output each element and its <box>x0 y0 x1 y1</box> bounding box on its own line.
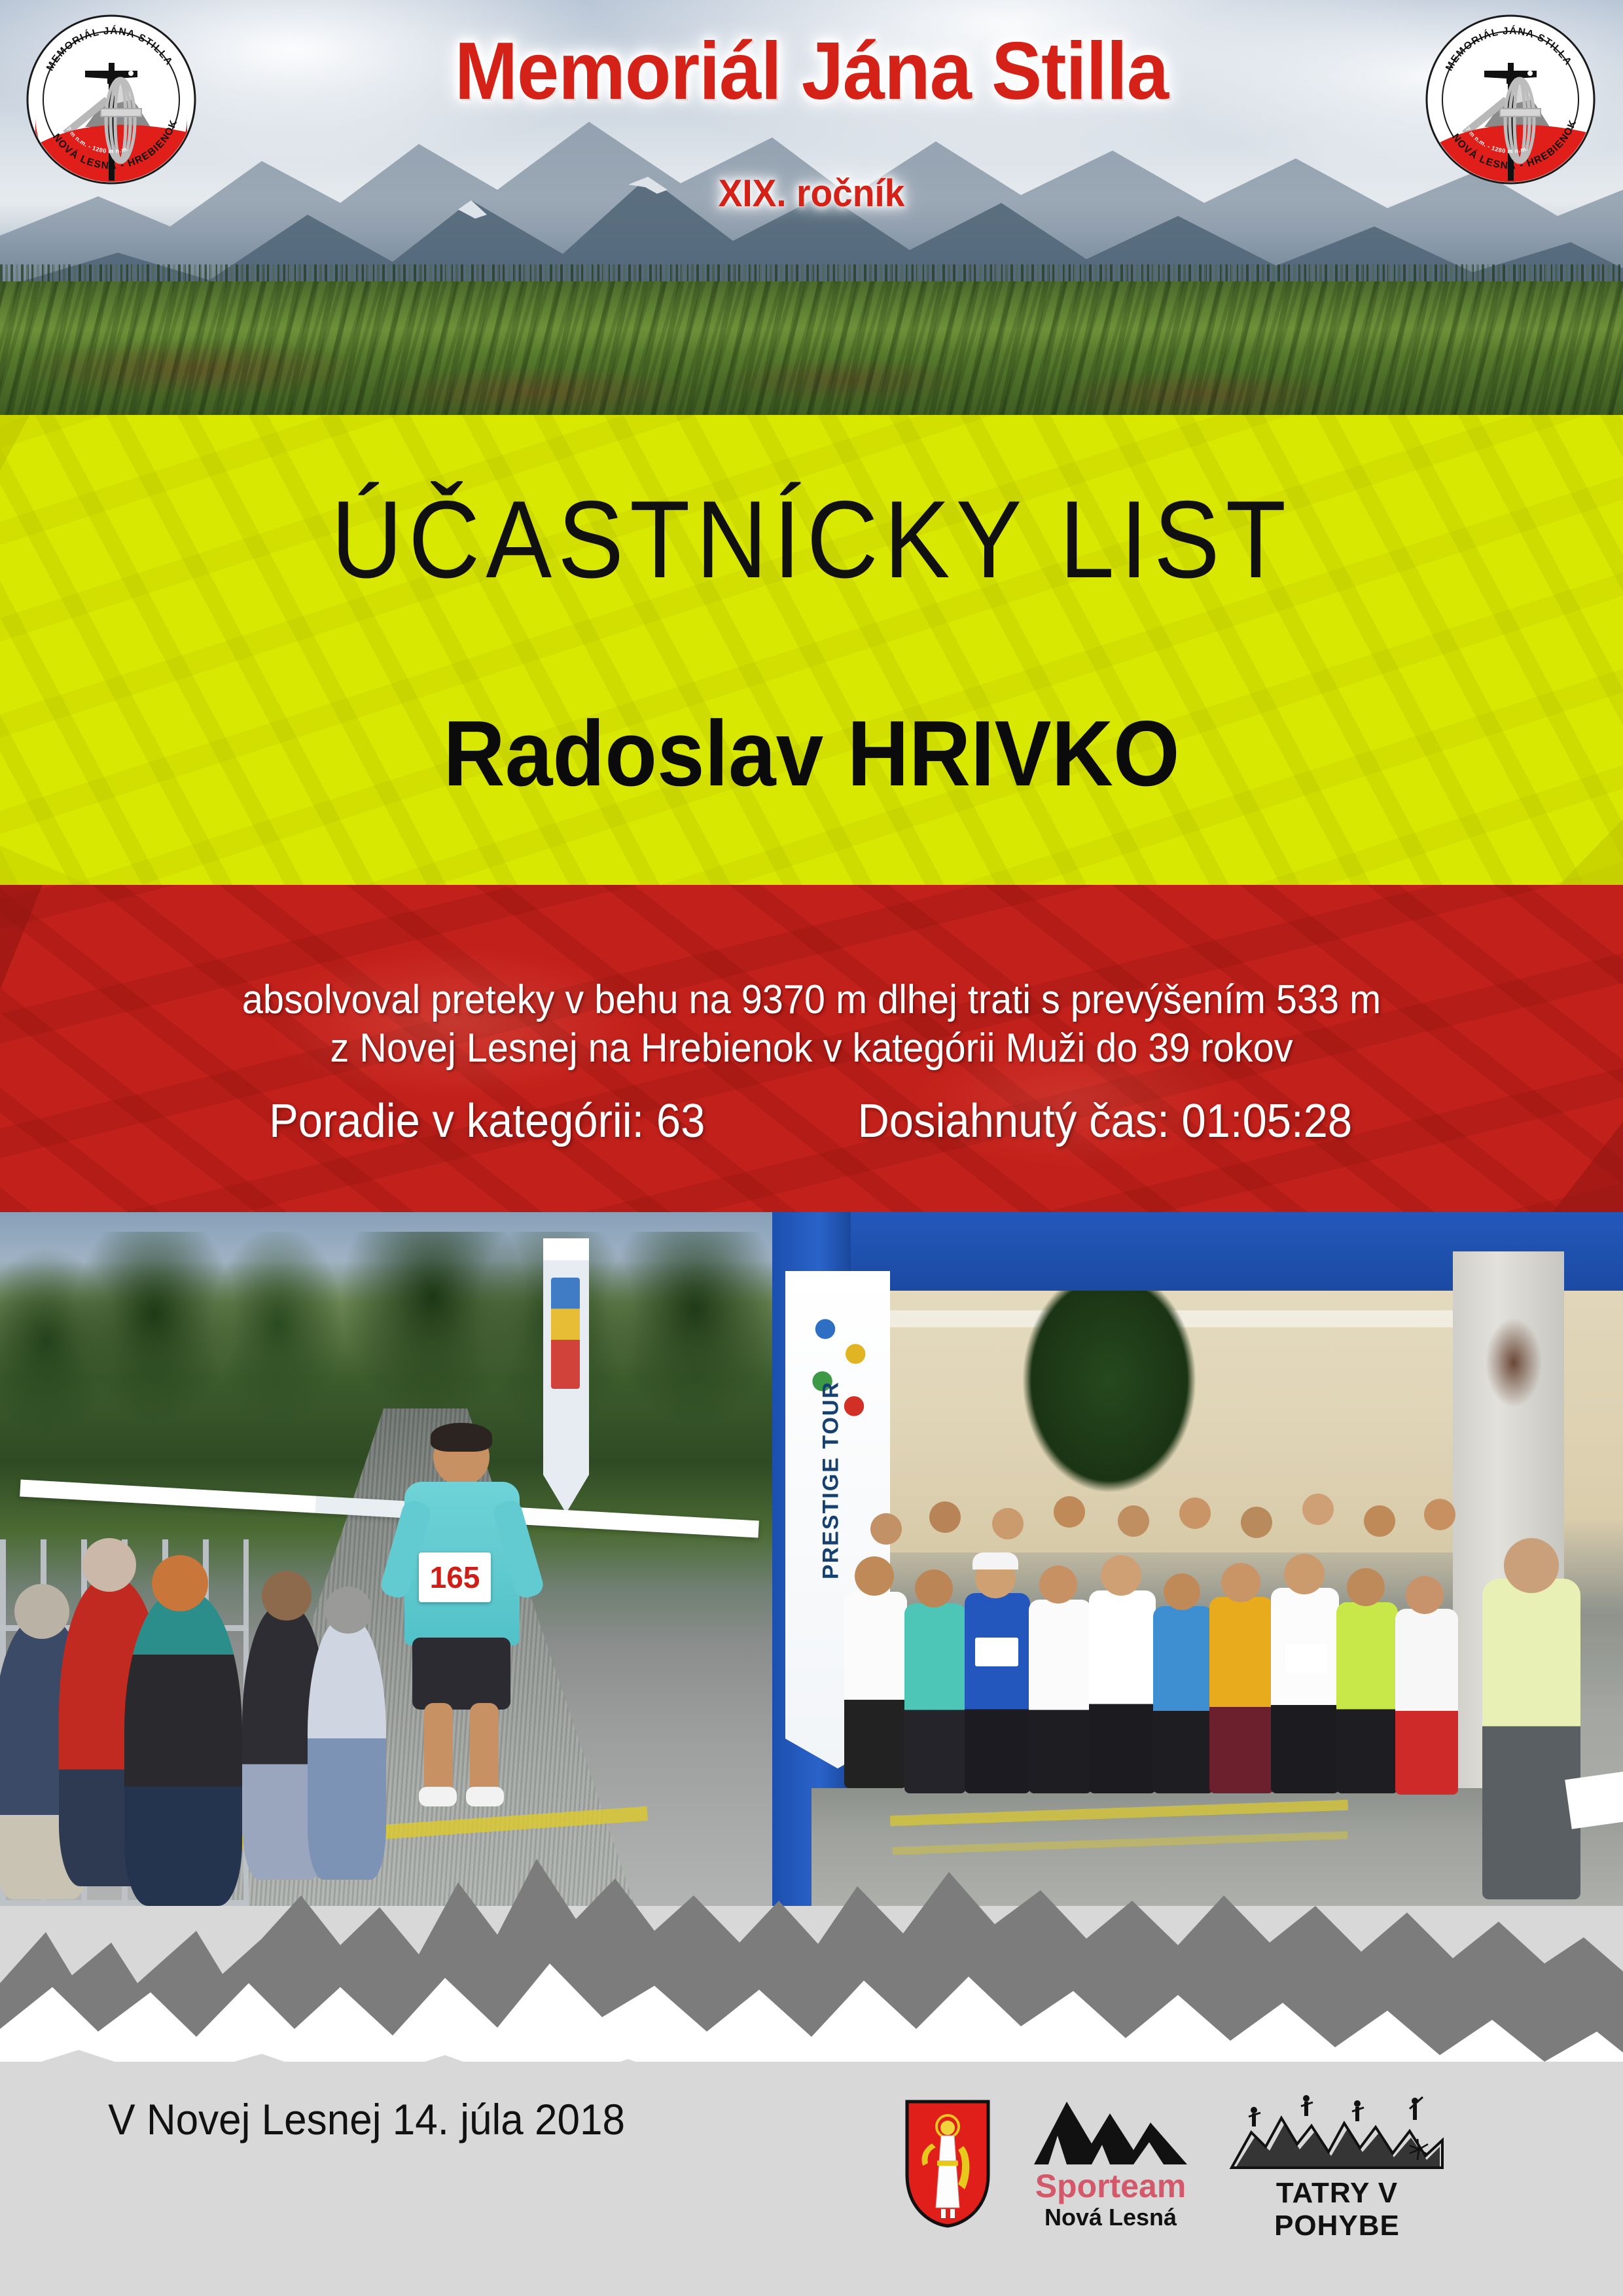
spectator-head <box>262 1571 312 1621</box>
village-valley <box>0 281 1623 419</box>
crowd-head <box>1424 1499 1455 1530</box>
result-line-1: absolvoval preteky v behu na 9370 m dlhe… <box>57 977 1566 1023</box>
race-official <box>1482 1579 1580 1899</box>
result-line-2: z Novej Lesnej na Hrebienok v kategórii … <box>57 1025 1566 1071</box>
crowd-head <box>1054 1496 1085 1528</box>
runner-head <box>1347 1568 1385 1606</box>
runner <box>965 1593 1030 1793</box>
photo-strip: 165 PRESTIGE TOUR <box>0 1212 1623 1906</box>
document-title: ÚČASTNÍCKY LIST <box>81 476 1542 603</box>
photo-mass-start: PRESTIGE TOUR <box>772 1212 1623 1906</box>
crowd-head <box>929 1501 961 1533</box>
runner-head <box>1284 1554 1325 1594</box>
runner-head <box>915 1570 953 1607</box>
runner-bib <box>1285 1644 1327 1673</box>
spectator <box>124 1592 242 1906</box>
official-head <box>1504 1538 1559 1593</box>
runner-bib-number: 165 <box>419 1552 491 1602</box>
crowd-head <box>1118 1505 1149 1537</box>
runner-head <box>1039 1566 1077 1604</box>
spectator-head <box>325 1587 372 1634</box>
crowd-head <box>1364 1505 1395 1537</box>
runner <box>1089 1590 1156 1793</box>
crowd-head <box>1302 1494 1334 1525</box>
nova-lesna-crest-icon <box>903 2098 992 2229</box>
tatry-mountains-icon <box>1229 2084 1445 2176</box>
banner-text: PRESTIGE TOUR <box>819 1336 844 1624</box>
crowd-head <box>1179 1498 1211 1529</box>
sporteam-name: Sporteam <box>1029 2170 1192 2202</box>
header-panorama: Memoriál Jána Stilla XIX. ročník <box>0 0 1623 419</box>
spectator-head <box>14 1584 69 1639</box>
spectator-head <box>82 1538 136 1592</box>
runner-crowd <box>844 1428 1486 1847</box>
runner-bib <box>975 1638 1018 1666</box>
finishing-runner <box>393 1428 530 1795</box>
sporteam-logo: Sporteam Nová Lesná <box>1029 2096 1192 2231</box>
tatry-name: TATRY V POHYBE <box>1229 2177 1445 2242</box>
runner <box>904 1604 966 1793</box>
sponsor-beach-flag <box>543 1238 589 1513</box>
participant-name: Radoslav HRIVKO <box>65 700 1558 808</box>
tatry-v-pohybe-logo: TATRY V POHYBE <box>1229 2084 1445 2242</box>
edition-subtitle: XIX. ročník <box>41 171 1582 215</box>
certificate-poster: Memoriál Jána Stilla XIX. ročník <box>0 0 1623 2296</box>
crowd-head <box>992 1508 1024 1539</box>
page-title: Memoriál Jána Stilla <box>57 25 1566 118</box>
crowd-head <box>1241 1507 1272 1538</box>
runner-head <box>1406 1576 1444 1614</box>
runner <box>1209 1597 1274 1793</box>
runner-head <box>1164 1573 1200 1610</box>
finish-time: Dosiahnutý čas: 01:05:28 <box>857 1094 1352 1148</box>
runner <box>1153 1606 1213 1793</box>
runner <box>1029 1600 1092 1793</box>
runner <box>1271 1588 1339 1793</box>
runner-cap <box>972 1552 1018 1570</box>
category-rank: Poradie v kategórii: 63 <box>269 1094 705 1148</box>
event-emblem-right: MEMORIÁL JÁNA STILLA NOVÁ LESNÁ - HREBIE… <box>1421 10 1599 188</box>
issue-date: V Novej Lesnej 14. júla 2018 <box>108 2094 625 2144</box>
runner <box>844 1592 907 1788</box>
sporteam-location: Nová Lesná <box>1029 2204 1192 2231</box>
runner-head <box>855 1556 894 1596</box>
runner-head <box>1101 1555 1141 1596</box>
crowd-head <box>870 1513 902 1545</box>
runner <box>1336 1602 1398 1793</box>
spectator <box>308 1618 386 1880</box>
results-clipboard <box>1565 1770 1623 1829</box>
sponsor-logo-row: Sporteam Nová Lesná <box>903 2081 1544 2245</box>
runner-head <box>1221 1563 1260 1602</box>
event-emblem-left: MEMORIÁL JÁNA STILLA NOVÁ LESNÁ - HREBIE… <box>22 10 200 188</box>
runner <box>1395 1609 1458 1795</box>
photo-finish-line: 165 <box>0 1212 772 1906</box>
sporteam-peaks-icon <box>1029 2096 1192 2168</box>
spectator-head <box>152 1555 208 1611</box>
result-stats-row: Poradie v kategórii: 63 Dosiahnutý čas: … <box>0 1094 1623 1148</box>
